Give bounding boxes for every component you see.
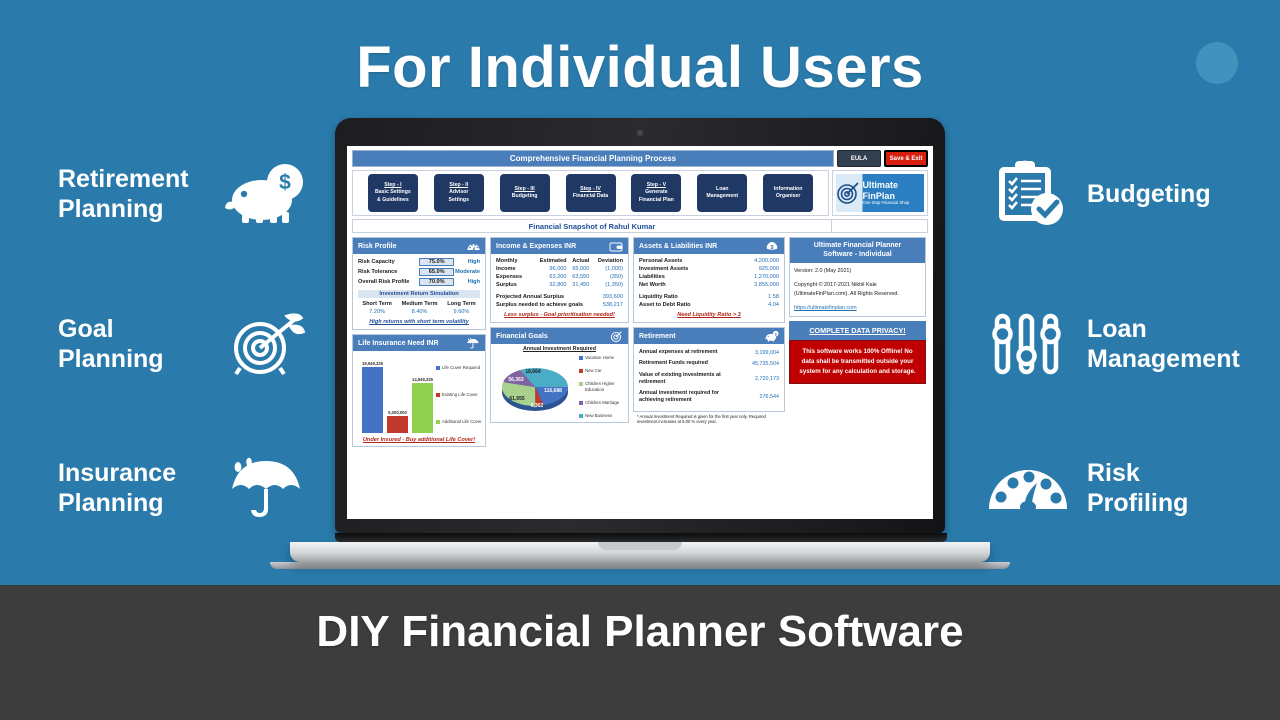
- legend-item: New Car: [579, 368, 628, 374]
- privacy-heading: COMPLETE DATA PRIVACY!: [789, 321, 926, 340]
- product-website-link[interactable]: https://ultimatefinplan.com: [794, 304, 921, 312]
- target-icon: [609, 331, 623, 342]
- table-row: Risk Capacity 75.0% High: [358, 257, 480, 267]
- card-title: Risk Profile: [358, 243, 397, 250]
- feature-label: Risk Profiling: [1087, 458, 1252, 519]
- row-rating: High: [454, 277, 480, 287]
- annual-investment-required: 276,544: [731, 388, 779, 407]
- income-expenses-table: Monthly Estimated Actual Deviation Incom…: [496, 257, 623, 289]
- table-row: Income 96,000 95,000 (1,000): [496, 265, 623, 273]
- risk-profile-header: Risk Profile: [353, 238, 485, 254]
- product-info-card: Ultimate Financial Planner Software - In…: [789, 237, 926, 317]
- card-title: Assets & Liabilities INR: [639, 243, 717, 250]
- legend-item: Life Cover Required: [436, 365, 482, 371]
- assets-liabilities-body: Personal Assets 4,200,000 Investment Ass…: [634, 254, 784, 322]
- table-row: Value of existing investments at retirem…: [639, 370, 779, 389]
- card-title: Retirement: [639, 333, 676, 340]
- investment-simulation-title: Investment Return Simulation: [358, 290, 480, 298]
- bar-value-label: 19,949,325: [362, 361, 383, 366]
- step-label: Loan Management: [706, 186, 738, 200]
- financial-planner-app: Comprehensive Financial Planning Process…: [347, 146, 933, 519]
- retirement-funds-required: 45,735,504: [731, 358, 779, 369]
- row-label: Liquidity Ratio: [639, 293, 755, 301]
- surplus-estimated: 32,800: [531, 281, 567, 289]
- retirement-header: Retirement $: [634, 328, 784, 344]
- step-number: Step - II: [449, 182, 468, 189]
- short-term-return: 7.20%: [358, 308, 396, 316]
- row-label: Income: [496, 265, 531, 273]
- income-expenses-note: Less surplus - Goal prioritisation neede…: [496, 312, 623, 318]
- bar-chart-plot: 19,949,325 5,000,000 14,949,325: [356, 355, 436, 435]
- legend-item: Vacation Home: [579, 355, 628, 361]
- pie-chart-legend: Vacation Home New Car Children Higher Ed…: [579, 352, 628, 422]
- step-label: Financial Data: [573, 193, 608, 200]
- footer-title: DIY Financial Planner Software: [0, 607, 1280, 657]
- step-number: Step - I: [384, 182, 401, 189]
- feature-label: Loan Management: [1087, 314, 1252, 375]
- snapshot-header: Financial Snapshot of Rahul Kumar: [352, 219, 928, 233]
- table-row: Surplus needed to achieve goals 538,217: [496, 301, 623, 309]
- table-row: Annual expenses at retirement 3,199,004: [639, 347, 779, 358]
- row-label: Expenses: [496, 273, 531, 281]
- table-row: Projected Annual Surplus 393,600: [496, 293, 623, 301]
- step-button-5[interactable]: Step - V Generate Financial Plan: [631, 174, 681, 212]
- expenses-actual: 63,550: [567, 273, 590, 281]
- annual-expenses-at-retirement: 3,199,004: [731, 347, 779, 358]
- legend-item: Children Higher Education: [579, 381, 628, 393]
- clipboard-check-icon: [985, 158, 1071, 230]
- feature-goal-planning: Goal Planning: [58, 308, 310, 380]
- row-label: Annual investment required for achieving…: [639, 388, 731, 407]
- column-header: Deviation: [589, 257, 623, 265]
- surplus-deviation: (1,350): [589, 281, 623, 289]
- step-number: Step - III: [515, 186, 535, 193]
- bar-item: 5,000,000: [387, 355, 408, 433]
- legend-label: New Business: [585, 413, 612, 419]
- legend-label: Additional Life Cover: [442, 419, 482, 425]
- laptop-base: [290, 542, 990, 562]
- risk-capacity-value: 75.0%: [419, 258, 454, 266]
- table-row: Asset to Debt Ratio 4.04: [639, 301, 779, 309]
- product-copyright: Copyright © 2017-2021 Nikhil Kale (Ultim…: [794, 281, 921, 298]
- long-term-return: 9.60%: [443, 308, 480, 316]
- step-button-1[interactable]: Step - I Basic Settings & Guidelines: [368, 174, 418, 212]
- pie-label-children-marriage: 56,363: [508, 377, 524, 383]
- table-row: Personal Assets 4,200,000: [639, 257, 779, 265]
- legend-swatch: [436, 420, 440, 424]
- assets-liabilities-note: Need Liquidity Ratio > 3: [639, 312, 779, 318]
- retirement-card: Retirement $: [633, 327, 785, 412]
- wallet-icon: [609, 241, 623, 252]
- row-label: Risk Capacity: [358, 257, 419, 267]
- pie-chart-title: Annual Investment Required: [491, 344, 628, 352]
- surplus-needed: 538,217: [599, 301, 623, 309]
- feature-label: Insurance Planning: [58, 458, 208, 519]
- surplus-actual: 31,450: [567, 281, 590, 289]
- row-label: Surplus: [496, 281, 531, 289]
- footer-bar: DIY Financial Planner Software: [0, 585, 1280, 720]
- step-navigation: Step - I Basic Settings & Guidelines Ste…: [352, 170, 928, 216]
- row-rating: Moderate: [454, 267, 480, 277]
- income-expenses-header: Income & Expenses INR: [491, 238, 628, 254]
- expenses-estimated: 63,200: [531, 273, 567, 281]
- table-row: Expenses 63,200 63,550 (350): [496, 273, 623, 281]
- risk-profile-card: Risk Profile: [352, 237, 486, 330]
- table-row: Monthly Estimated Actual Deviation: [496, 257, 623, 265]
- table-row: Annual investment required for achieving…: [639, 388, 779, 407]
- bar-chart-legend: Life Cover Required Existing Life Cover …: [436, 355, 482, 435]
- privacy-body: This software works 100% Offline! No dat…: [789, 340, 926, 384]
- legend-item: Existing Life Cover: [436, 392, 482, 398]
- step-button-4[interactable]: Step - IV Financial Data: [566, 174, 616, 212]
- umbrella-icon: [224, 452, 310, 524]
- table-row: Investment Assets 925,000: [639, 265, 779, 273]
- table-row: Short Term Medium Term Long Term: [358, 300, 480, 308]
- privacy-card: COMPLETE DATA PRIVACY! This software wor…: [789, 321, 926, 384]
- row-label: Asset to Debt Ratio: [639, 301, 755, 309]
- assets-liabilities-table: Personal Assets 4,200,000 Investment Ass…: [639, 257, 779, 289]
- financial-goals-chart: 116,688 6,302 61,955 56,363 18,664: [491, 352, 628, 422]
- app-toolbar: Comprehensive Financial Planning Process…: [352, 150, 928, 167]
- gauge-icon: [466, 241, 480, 252]
- page-title: For Individual Users: [0, 34, 1280, 101]
- bar-value-label: 14,949,325: [412, 377, 433, 382]
- risk-profile-body: Risk Capacity 75.0% High Risk Tolerance …: [353, 254, 485, 329]
- income-expenses-card: Income & Expenses INR: [490, 237, 629, 323]
- bar-additional-life-cover: [412, 383, 433, 433]
- life-insurance-card: Life Insurance Need INR: [352, 334, 486, 447]
- ratios-table: Liquidity Ratio 1.58 Asset to Debt Ratio…: [639, 293, 779, 309]
- card-title: Income & Expenses INR: [496, 243, 576, 250]
- row-label: Risk Tolerance: [358, 267, 419, 277]
- legend-label: Existing Life Cover: [442, 392, 478, 398]
- bar-value-label: 5,000,000: [388, 410, 407, 415]
- asset-to-debt-ratio-value: 4.04: [755, 301, 779, 309]
- product-version: Version: 2.0 (May 2021): [794, 267, 921, 275]
- feature-insurance-planning: Insurance Planning: [58, 452, 310, 524]
- legend-label: Children Higher Education: [585, 381, 628, 393]
- snapshot-spacer: [831, 220, 927, 232]
- financial-goals-header: Financial Goals: [491, 328, 628, 344]
- table-row: 7.20% 8.40% 9.60%: [358, 308, 480, 316]
- step-label: Generate Financial Plan: [639, 189, 674, 203]
- app-title: Comprehensive Financial Planning Process: [352, 150, 834, 167]
- feature-label: Goal Planning: [58, 314, 208, 375]
- financial-goals-card: Financial Goals Annual Investment Requir…: [490, 327, 629, 423]
- legend-item: Additional Life Cover: [436, 419, 482, 425]
- retirement-body: Annual expenses at retirement 3,199,004 …: [634, 344, 784, 411]
- financial-goals-footnote: * Annual Investment Required is given fo…: [633, 413, 785, 424]
- column-header: Actual: [567, 257, 590, 265]
- table-row: Liabilities 1,270,000: [639, 273, 779, 281]
- step-button-loan-management[interactable]: Loan Management: [697, 174, 747, 212]
- row-label: Investment Assets: [639, 265, 732, 273]
- income-deviation: (1,000): [589, 265, 623, 273]
- dashboard-grid: Risk Profile: [352, 237, 928, 447]
- pie-label-children-education: 61,955: [509, 396, 525, 402]
- laptop-screen: Comprehensive Financial Planning Process…: [347, 146, 933, 519]
- pie-label-new-car: 6,302: [531, 403, 544, 409]
- retirement-table: Annual expenses at retirement 3,199,004 …: [639, 347, 779, 407]
- gauge-icon: [985, 452, 1071, 524]
- legend-label: Life Cover Required: [442, 365, 480, 371]
- umbrella-icon: [466, 338, 480, 349]
- income-extras-table: Projected Annual Surplus 393,600 Surplus…: [496, 293, 623, 309]
- feature-label: Budgeting: [1087, 179, 1252, 210]
- laptop-hinge: [335, 533, 947, 542]
- legend-swatch: [436, 393, 440, 397]
- legend-label: New Car: [585, 368, 602, 374]
- bar-existing-life-cover: [387, 416, 408, 433]
- brand-name: Ultimate FinPlan: [862, 180, 924, 201]
- legend-label: Vacation Home: [585, 355, 614, 361]
- income-expenses-body: Monthly Estimated Actual Deviation Incom…: [491, 254, 628, 322]
- legend-swatch: [436, 366, 440, 370]
- laptop-mockup: Comprehensive Financial Planning Process…: [335, 118, 945, 569]
- projected-annual-surplus: 393,600: [599, 293, 623, 301]
- feature-retirement-planning: Retirement Planning $: [58, 158, 310, 230]
- target-logo-icon: [836, 181, 860, 205]
- risk-profile-table: Risk Capacity 75.0% High Risk Tolerance …: [358, 257, 480, 287]
- target-arrow-icon: [224, 308, 310, 380]
- brand-tagline: One-Stop Financial Shop: [862, 201, 924, 206]
- decorative-circle: [1196, 42, 1238, 84]
- existing-investments-at-retirement: 2,720,173: [731, 370, 779, 389]
- legend-swatch: [579, 414, 583, 418]
- risk-profile-note: High returns with short term volatility: [358, 319, 480, 325]
- bar-item: 14,949,325: [412, 355, 433, 433]
- column-header: Long Term: [443, 300, 480, 308]
- row-label: Personal Assets: [639, 257, 732, 265]
- eula-button[interactable]: EULA: [837, 150, 881, 167]
- card-title: Life Insurance Need INR: [358, 340, 439, 347]
- row-rating: High: [454, 257, 480, 267]
- investment-simulation-table: Short Term Medium Term Long Term 7.20% 8…: [358, 300, 480, 316]
- laptop-base-lip: [270, 562, 1010, 569]
- sliders-icon: [985, 308, 1071, 380]
- legend-swatch: [579, 356, 583, 360]
- column-header: Estimated: [531, 257, 567, 265]
- app-logo: Ultimate FinPlan One-Stop Financial Shop: [836, 174, 924, 212]
- feature-risk-profiling: Risk Profiling: [985, 452, 1252, 524]
- piggy-bank-icon: $: [765, 331, 779, 342]
- net-worth-value: 3,855,000: [732, 281, 779, 289]
- investment-assets-value: 925,000: [732, 265, 779, 273]
- table-row: Overall Risk Profile 70.0% High: [358, 277, 480, 287]
- table-row: Net Worth 3,855,000: [639, 281, 779, 289]
- row-label: Net Worth: [639, 281, 732, 289]
- assets-liabilities-header: Assets & Liabilities INR $: [634, 238, 784, 254]
- income-estimated: 96,000: [531, 265, 567, 273]
- table-row: Liquidity Ratio 1.58: [639, 293, 779, 301]
- step-label: Information Organiser: [774, 186, 803, 200]
- legend-label: Children Marriage: [585, 400, 619, 406]
- snapshot-title: Financial Snapshot of Rahul Kumar: [353, 222, 831, 231]
- legend-swatch: [579, 401, 583, 405]
- row-label: Retirement Funds required: [639, 358, 731, 369]
- row-label: Projected Annual Surplus: [496, 293, 599, 301]
- bar-life-cover-required: [362, 367, 383, 433]
- step-label: Budgeting: [512, 193, 538, 200]
- legend-swatch: [579, 369, 583, 373]
- table-row: Surplus 32,800 31,450 (1,350): [496, 281, 623, 289]
- risk-tolerance-value: 65.0%: [419, 268, 454, 276]
- feature-loan-management: Loan Management: [985, 308, 1252, 380]
- medium-term-return: 8.40%: [396, 308, 443, 316]
- bar-item: 19,949,325: [362, 355, 383, 433]
- step-number: Step - V: [647, 182, 666, 189]
- column-header: Short Term: [358, 300, 396, 308]
- step-label: Basic Settings & Guidelines: [375, 189, 411, 203]
- step-button-information-organiser[interactable]: Information Organiser: [763, 174, 813, 212]
- legend-item: New Business: [579, 413, 628, 419]
- svg-text:$: $: [771, 245, 774, 251]
- row-label: Annual expenses at retirement: [639, 347, 731, 358]
- liabilities-value: 1,270,000: [732, 273, 779, 281]
- laptop-lid: Comprehensive Financial Planning Process…: [335, 118, 945, 533]
- liquidity-ratio-value: 1.58: [755, 293, 779, 301]
- step-button-2[interactable]: Step - II Advisor Settings: [434, 174, 484, 212]
- table-row: Risk Tolerance 65.0% Moderate: [358, 267, 480, 277]
- legend-swatch: [579, 382, 583, 386]
- card-title: Financial Goals: [496, 333, 548, 340]
- row-label: Liabilities: [639, 273, 732, 281]
- column-header: Medium Term: [396, 300, 443, 308]
- money-bag-icon: $: [765, 241, 779, 252]
- step-button-3[interactable]: Step - III Budgeting: [500, 174, 550, 212]
- pie-label-vacation-home: 116,688: [544, 388, 562, 394]
- save-and-exit-button[interactable]: Save & Exit: [884, 150, 928, 167]
- product-info-title: Ultimate Financial Planner Software - In…: [790, 238, 925, 263]
- piggy-bank-icon: $: [224, 158, 310, 230]
- assets-liabilities-card: Assets & Liabilities INR $: [633, 237, 785, 323]
- row-label: Surplus needed to achieve goals: [496, 301, 599, 309]
- overall-risk-value: 70.0%: [419, 278, 454, 286]
- column-header: Monthly: [496, 257, 531, 265]
- row-label: Value of existing investments at retirem…: [639, 370, 731, 389]
- table-row: Retirement Funds required 45,735,504: [639, 358, 779, 369]
- life-insurance-header: Life Insurance Need INR: [353, 335, 485, 351]
- product-info-body: Version: 2.0 (May 2021) Copyright © 2017…: [790, 263, 925, 317]
- pie-label-new-business: 18,664: [525, 369, 541, 375]
- webcam-icon: [637, 130, 643, 136]
- pie-chart-plot: 116,688 6,302 61,955 56,363 18,664: [491, 352, 579, 422]
- life-insurance-note: Under Insured - Buy additional Life Cove…: [353, 437, 485, 443]
- life-insurance-chart: 19,949,325 5,000,000 14,949,325: [353, 351, 485, 437]
- svg-text:$: $: [279, 171, 291, 194]
- personal-assets-value: 4,200,000: [732, 257, 779, 265]
- step-label: Advisor Settings: [449, 189, 469, 203]
- expenses-deviation: (350): [589, 273, 623, 281]
- legend-item: Children Marriage: [579, 400, 628, 406]
- step-number: Step - IV: [580, 186, 601, 193]
- row-label: Overall Risk Profile: [358, 277, 419, 287]
- feature-budgeting: Budgeting: [985, 158, 1252, 230]
- income-actual: 95,000: [567, 265, 590, 273]
- feature-label: Retirement Planning: [58, 164, 208, 225]
